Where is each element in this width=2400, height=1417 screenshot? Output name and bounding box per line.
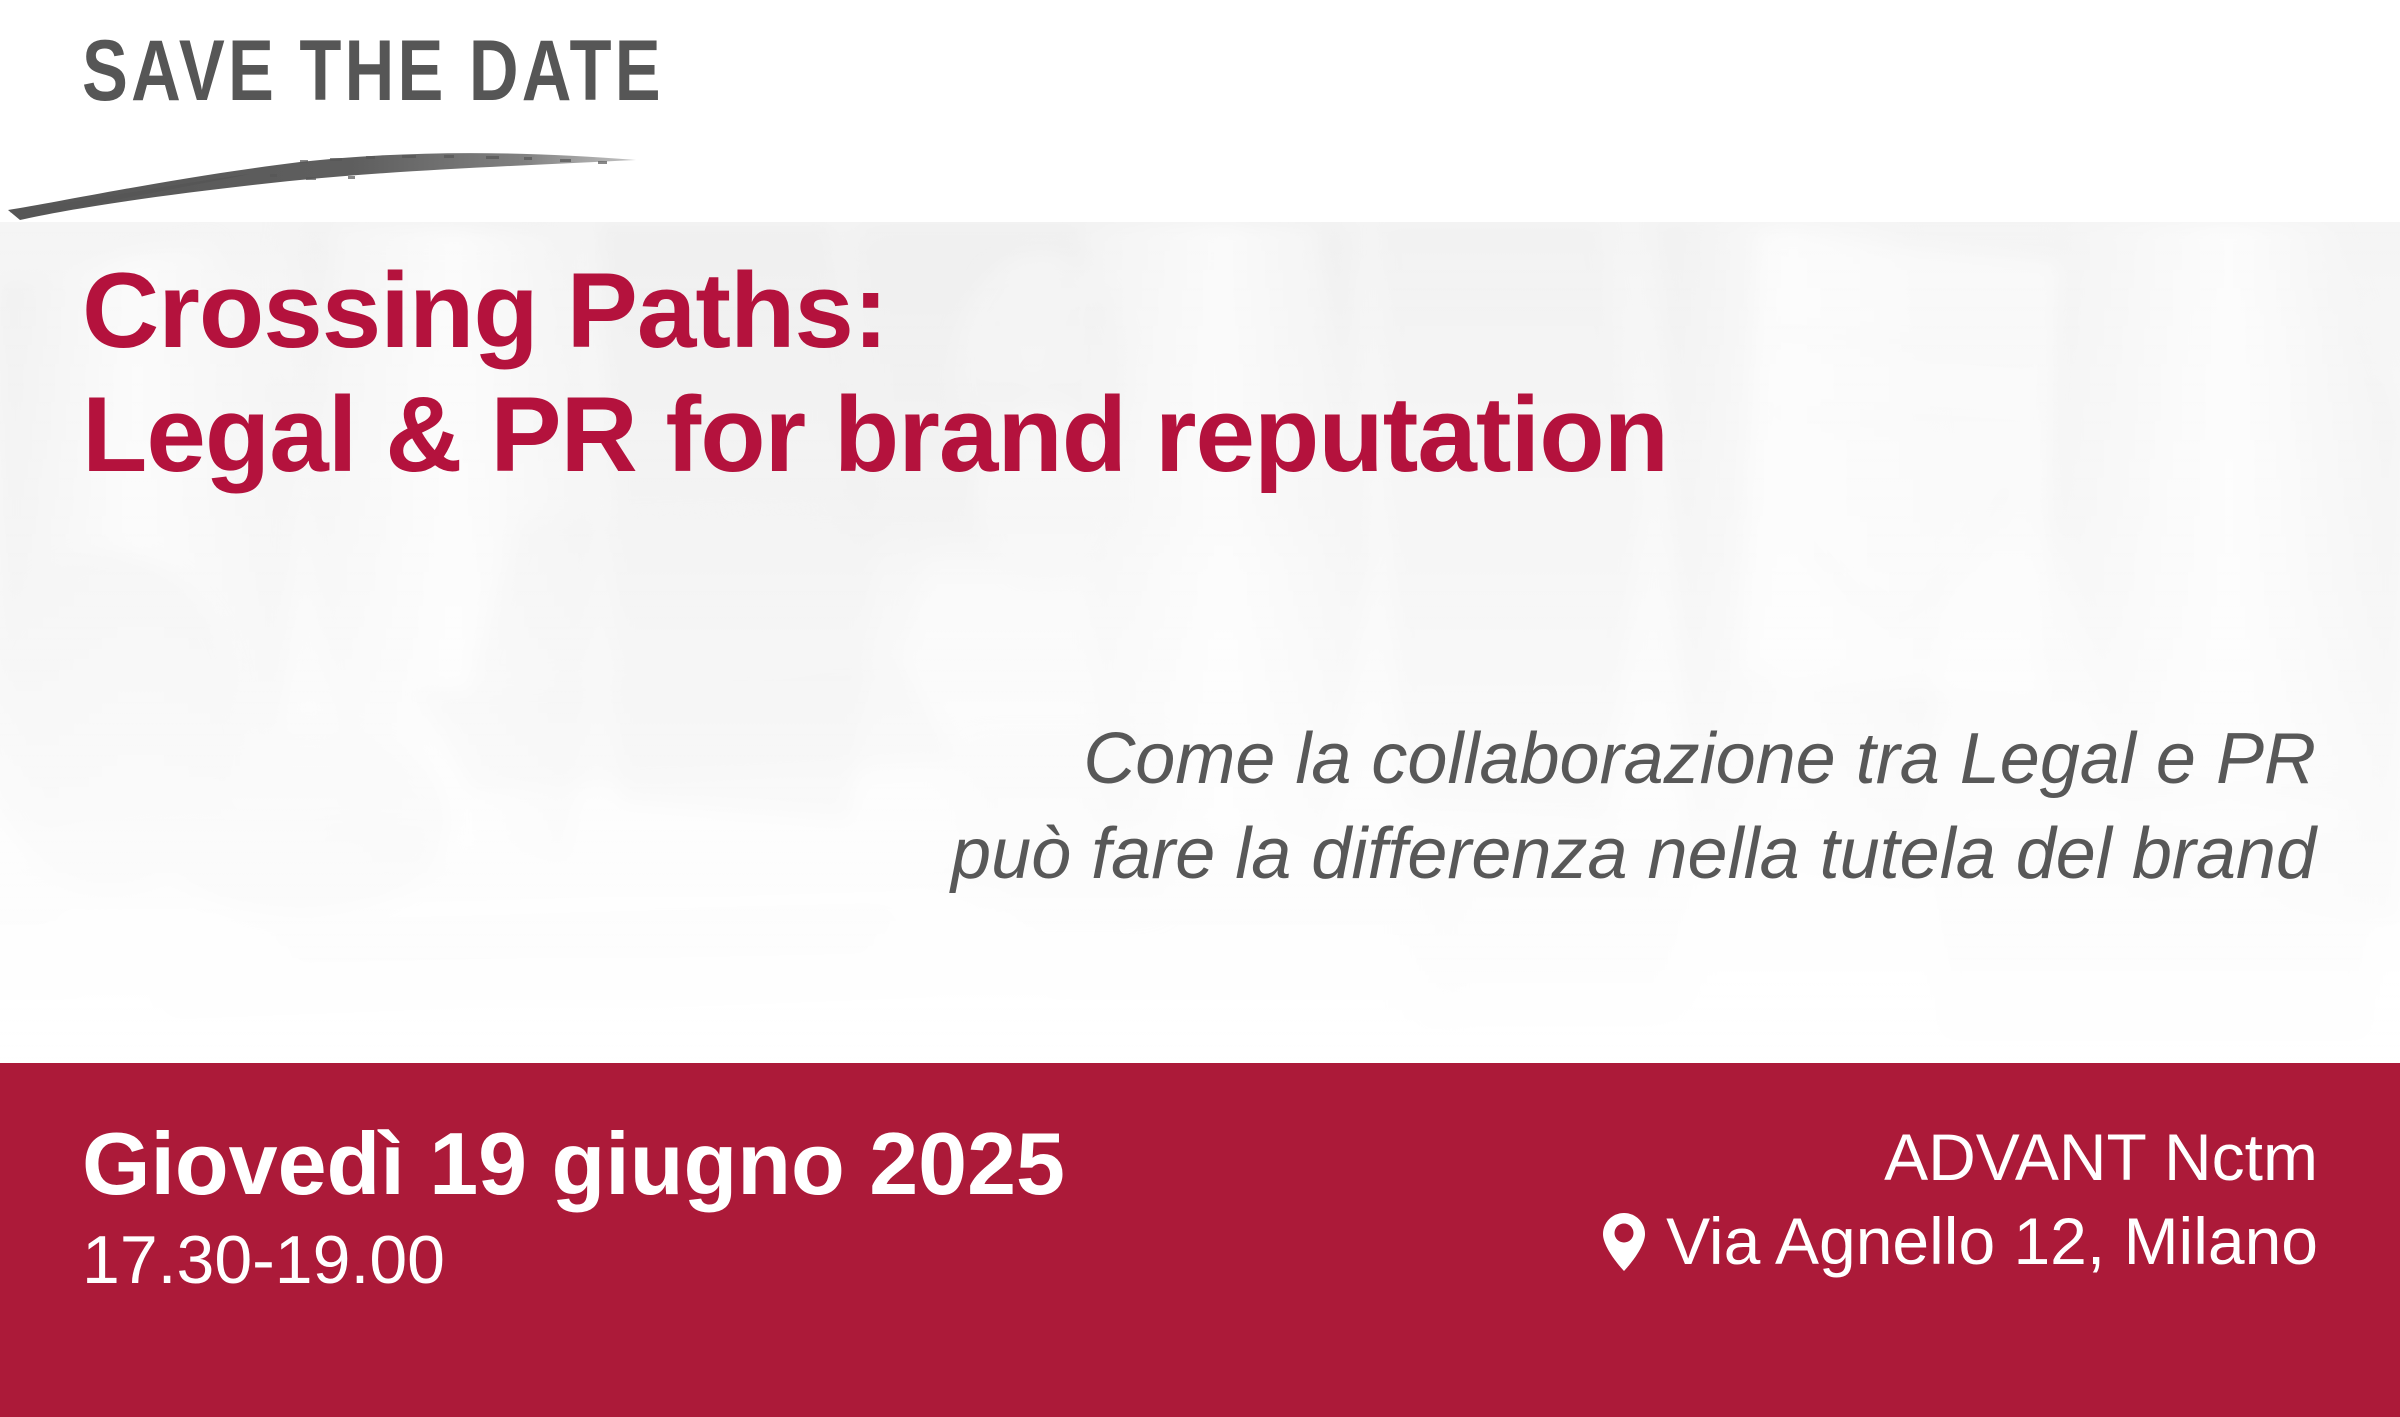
event-subtitle: Come la collaborazione tra Legal e PR pu… xyxy=(951,712,2316,902)
header-band: SAVE THE DATE xyxy=(0,0,2400,222)
footer-band: Giovedì 19 giugno 2025 17.30-19.00 ADVAN… xyxy=(0,1063,2400,1417)
brush-stroke-artwork xyxy=(0,132,640,222)
venue-address-row: Via Agnello 12, Milano xyxy=(1600,1203,2318,1281)
event-datetime-block: Giovedì 19 giugno 2025 17.30-19.00 xyxy=(82,1117,1065,1303)
event-time: 17.30-19.00 xyxy=(82,1218,1065,1303)
event-venue-block: ADVANT Nctm Via Agnello 12, Milano xyxy=(1600,1119,2318,1281)
venue-name: ADVANT Nctm xyxy=(1600,1119,2318,1197)
venue-address: Via Agnello 12, Milano xyxy=(1666,1203,2318,1281)
event-title-line-1: Crossing Paths: xyxy=(82,248,1668,372)
event-subtitle-line-1: Come la collaborazione tra Legal e PR xyxy=(951,712,2316,807)
event-date: Giovedì 19 giugno 2025 xyxy=(82,1117,1065,1210)
event-subtitle-line-2: può fare la differenza nella tutela del … xyxy=(951,807,2316,902)
map-pin-artwork xyxy=(1600,1209,1648,1275)
hero-image-band: Crossing Paths: Legal & PR for brand rep… xyxy=(0,222,2400,1063)
save-the-date-eyebrow: SAVE THE DATE xyxy=(82,28,664,114)
event-title: Crossing Paths: Legal & PR for brand rep… xyxy=(82,248,1668,496)
save-the-date-poster: Crossing Paths: Legal & PR for brand rep… xyxy=(0,0,2400,1417)
event-title-line-2: Legal & PR for brand reputation xyxy=(82,372,1668,496)
brush-stroke-icon xyxy=(0,132,640,222)
map-pin-icon xyxy=(1600,1209,1648,1275)
